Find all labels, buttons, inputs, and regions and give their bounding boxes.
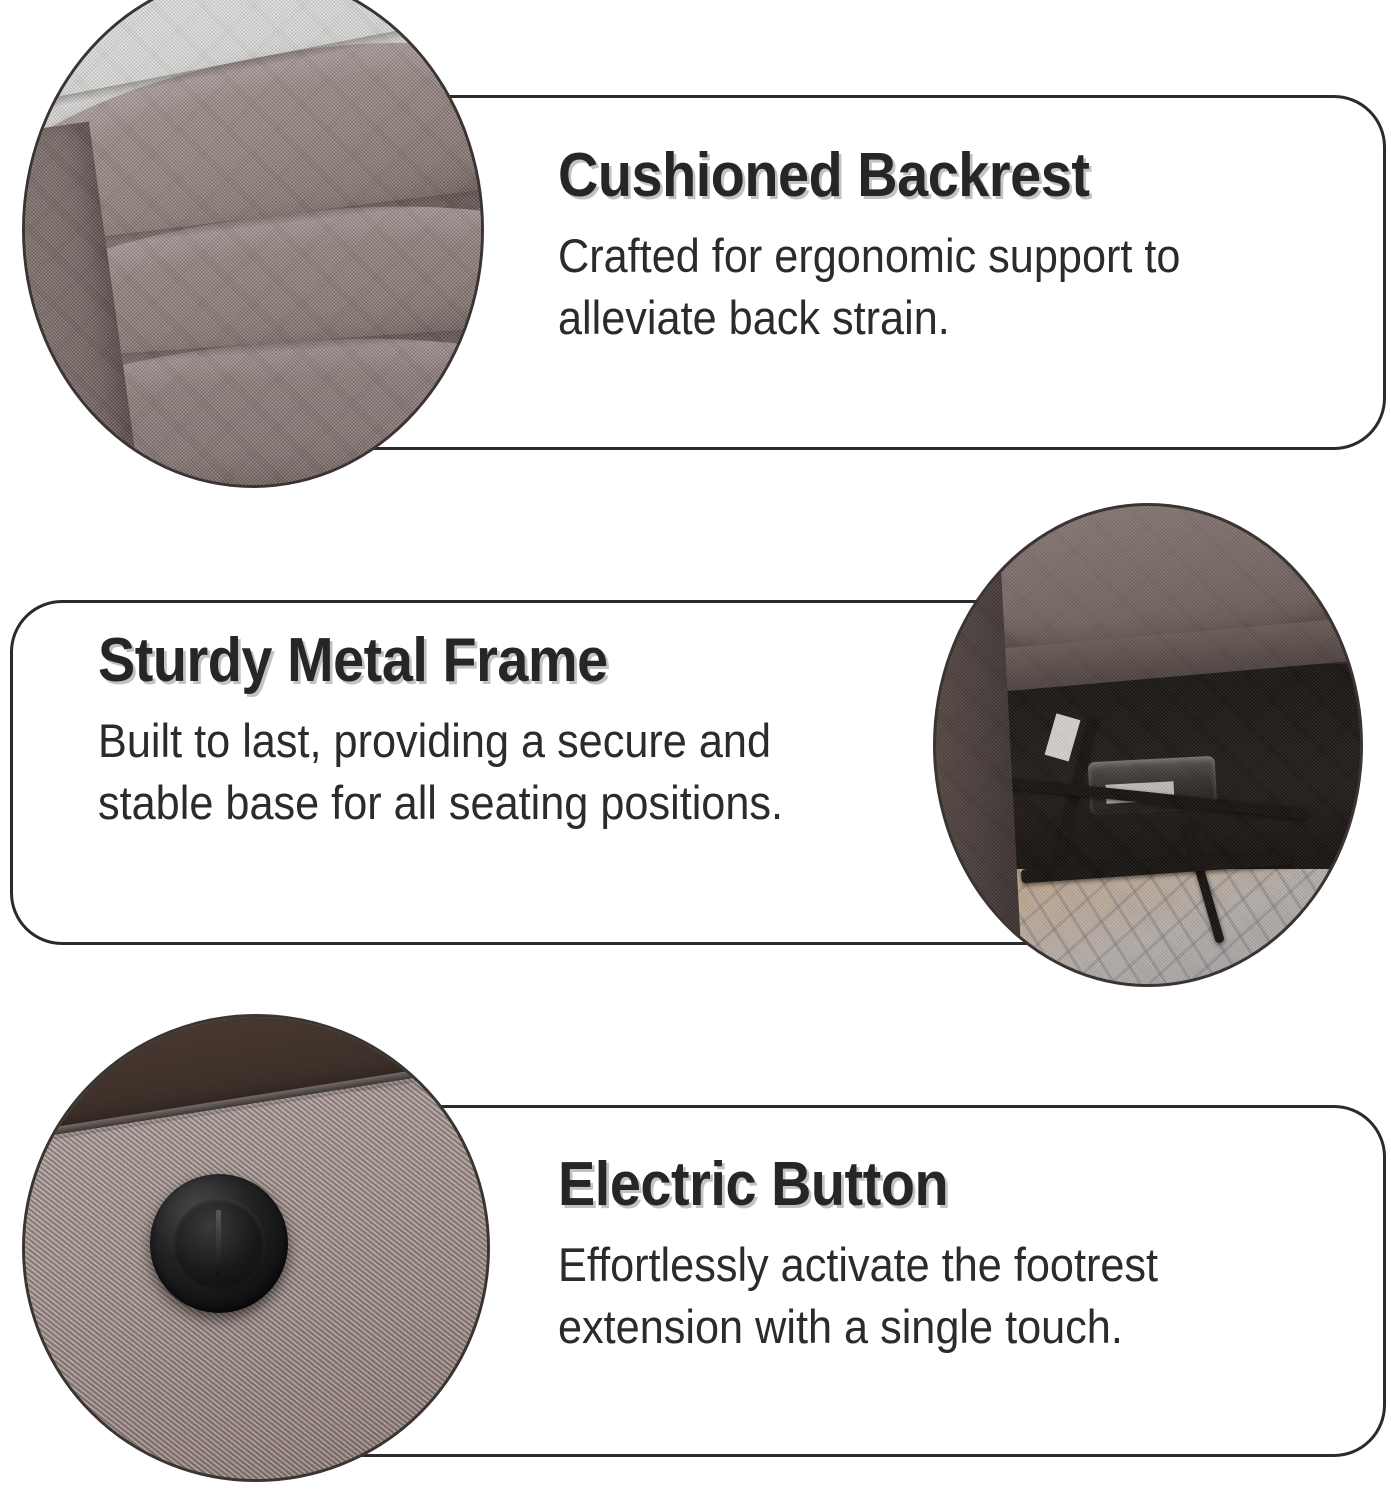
- feature-description-cushioned-backrest: Crafted for ergonomic support to allevia…: [558, 225, 1257, 349]
- feature-title-cushioned-backrest: Cushioned Backrest: [558, 143, 1242, 209]
- power-button-inner: [173, 1198, 264, 1289]
- frame-photo-inner: [936, 506, 1360, 984]
- feature-description-sturdy-metal-frame: Built to last, providing a secure and st…: [98, 710, 816, 834]
- power-button-slot: [216, 1210, 221, 1276]
- feature-description-electric-button: Effortlessly activate the footrest exten…: [558, 1234, 1266, 1358]
- backrest-photo-inner: [25, 0, 481, 485]
- button-photo-inner: [25, 1017, 487, 1479]
- feature-title-sturdy-metal-frame: Sturdy Metal Frame: [98, 628, 800, 694]
- feature-text-sturdy-metal-frame: Sturdy Metal Frame Built to last, provid…: [98, 628, 878, 834]
- feature-infographic: Cushioned Backrest Crafted for ergonomic…: [0, 0, 1391, 1500]
- floor-rug: [995, 869, 1360, 984]
- feature-text-electric-button: Electric Button Effortlessly activate th…: [558, 1152, 1328, 1358]
- feature-title-electric-button: Electric Button: [558, 1152, 1251, 1218]
- feature-image-sturdy-metal-frame: [933, 503, 1363, 987]
- feature-image-electric-button: [22, 1014, 490, 1482]
- power-button-icon: [150, 1174, 289, 1313]
- feature-text-cushioned-backrest: Cushioned Backrest Crafted for ergonomic…: [558, 143, 1318, 349]
- feature-image-cushioned-backrest: [22, 0, 484, 488]
